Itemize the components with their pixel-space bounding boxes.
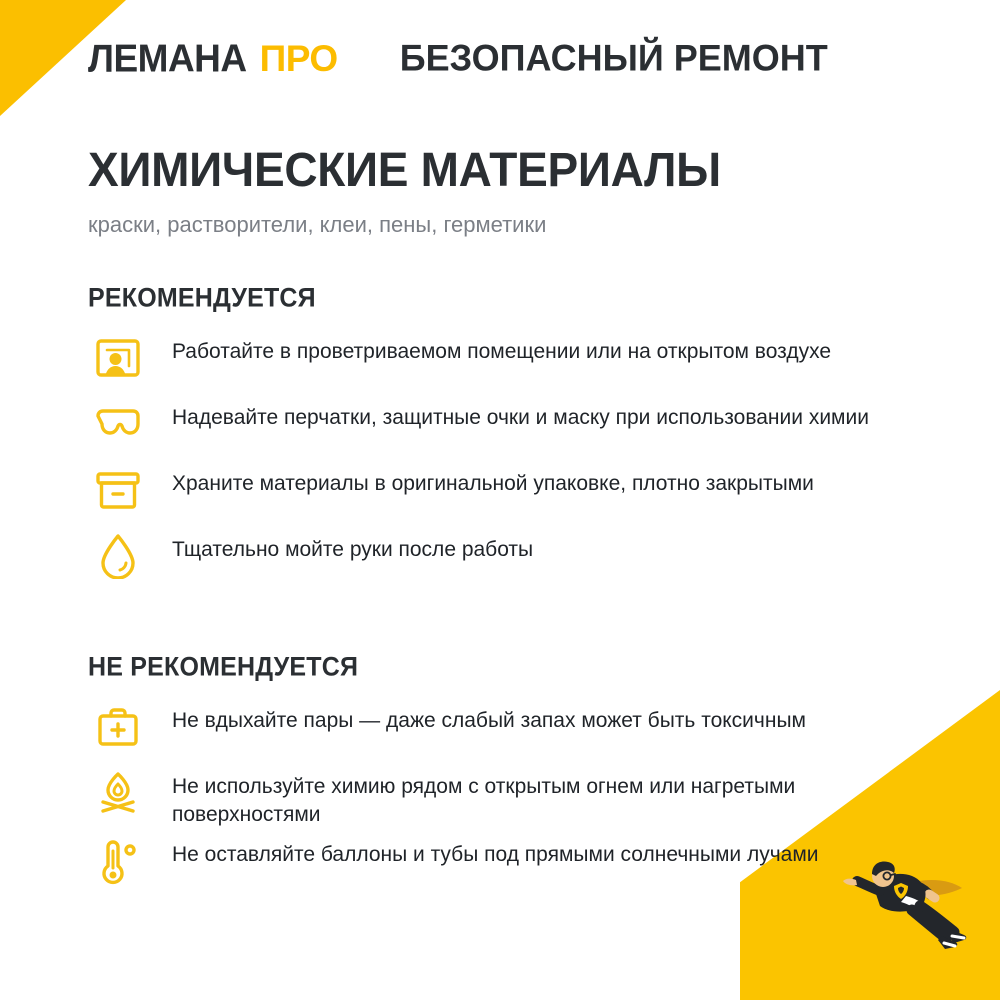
list-item: Не используйте химию рядом с открытым ог… [88,769,940,829]
list-item: Не вдыхайте пары — даже слабый запах мож… [88,703,940,761]
list-item: Надевайте перчатки, защитные очки и маск… [88,400,940,458]
not-recommended-item-list: Не вдыхайте пары — даже слабый запах мож… [88,703,940,903]
page-subtitle: краски, растворители, клеи, пены, гермет… [88,211,940,239]
list-item-text: Надевайте перчатки, защитные очки и маск… [172,400,869,432]
list-item-text: Не используйте химию рядом с открытым ог… [172,769,872,829]
list-item-text: Храните материалы в оригинальной упаковк… [172,466,814,498]
list-item-text: Не оставляйте баллоны и тубы под прямыми… [172,837,819,869]
list-item-text: Не вдыхайте пары — даже слабый запах мож… [172,703,806,735]
page-title: ХИМИЧЕСКИЕ МАТЕРИАЛЫ [88,144,940,195]
thermometer-icon [88,833,148,889]
first-aid-kit-icon [88,699,148,755]
list-item: Работайте в проветриваемом помещении или… [88,334,940,392]
header: ЛЕМАНА ПРО БЕЗОПАСНЫЙ РЕМОНТ [0,0,1000,116]
flying-superhero-mascot [828,844,978,954]
header-title: БЕЗОПАСНЫЙ РЕМОНТ [400,36,828,80]
recommended-item-list: Работайте в проветриваемом помещении или… [88,334,940,598]
ventilated-room-icon [88,330,148,386]
brand-logo: ЛЕМАНА ПРО [88,40,338,77]
list-item-text: Тщательно мойте руки после работы [172,532,533,564]
safety-goggles-icon [88,396,148,452]
campfire-icon [88,765,148,821]
section-recommended: РЕКОМЕНДУЕТСЯ Работайте в проветриваемом… [88,283,940,598]
storage-box-icon [88,462,148,518]
logo-text-secondary: ПРО [260,40,338,77]
section-not-recommended: НЕ РЕКОМЕНДУЕТСЯ Не вдыхайте пары — даже… [88,652,940,903]
section-heading-recommended: РЕКОМЕНДУЕТСЯ [88,283,940,314]
main-content: ХИМИЧЕСКИЕ МАТЕРИАЛЫ краски, растворител… [0,116,1000,903]
list-item-text: Работайте в проветриваемом помещении или… [172,334,831,366]
logo-text-primary: ЛЕМАНА [88,39,247,77]
list-item: Не оставляйте баллоны и тубы под прямыми… [88,837,940,895]
list-item: Тщательно мойте руки после работы [88,532,940,590]
list-item: Храните материалы в оригинальной упаковк… [88,466,940,524]
water-drop-icon [88,528,148,584]
section-heading-not-recommended: НЕ РЕКОМЕНДУЕТСЯ [88,652,940,683]
